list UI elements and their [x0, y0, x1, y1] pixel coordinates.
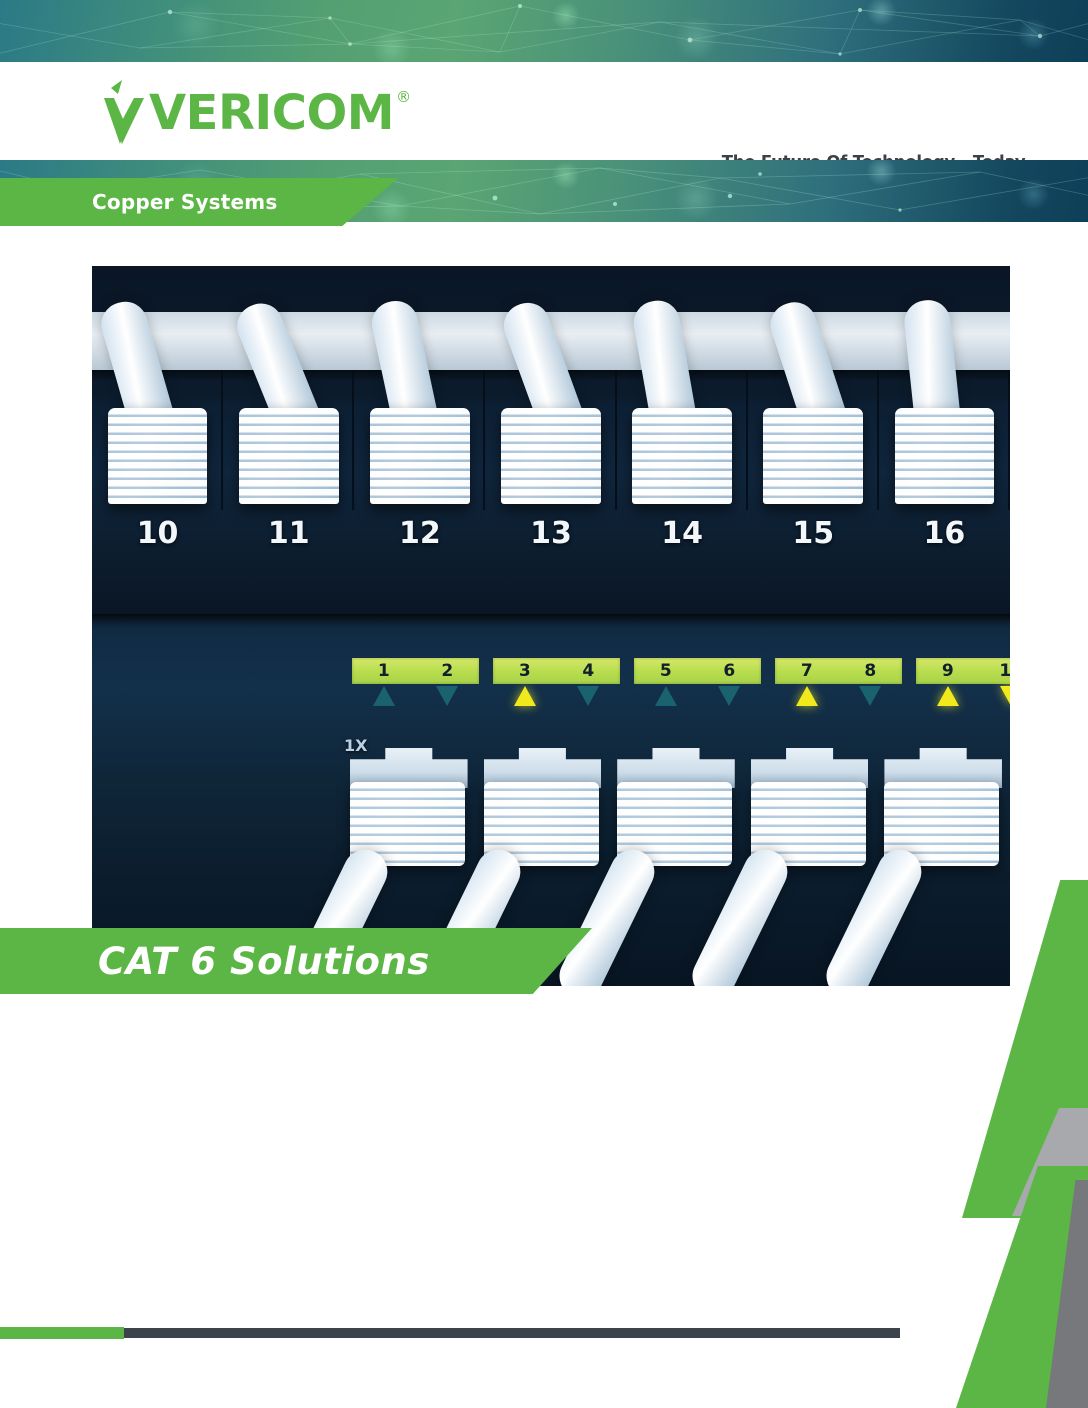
hero-photo-patch-panel: 10111213141516 12345678910 1X [92, 266, 1010, 986]
led-triangle-group [634, 686, 761, 716]
led-indicator-off [373, 686, 395, 706]
led-indicator-cell [557, 686, 621, 716]
footer-rule-dark [124, 1328, 900, 1338]
led-port-number: 9 [916, 661, 980, 681]
switch-jack-slot [876, 748, 1010, 984]
cable-boot [239, 408, 339, 504]
led-indicator-cell [634, 686, 698, 716]
led-triangle-group [916, 686, 1010, 716]
led-indicator-cell [416, 686, 480, 716]
led-indicator-cell [916, 686, 980, 716]
cable-boot [763, 408, 863, 504]
cable-boot [370, 408, 470, 504]
led-indicator-on [796, 686, 818, 706]
port-number: 14 [617, 516, 748, 576]
vericom-logo[interactable]: VERICOM ® [96, 78, 411, 150]
led-indicator-off [577, 686, 599, 706]
led-port-number: 1 [352, 661, 416, 681]
cable-boot [632, 408, 732, 504]
led-port-number: 7 [775, 661, 839, 681]
upper-jack-row [92, 362, 1010, 512]
led-label-group: 910 [916, 658, 1010, 684]
led-port-number: 10 [980, 661, 1011, 681]
registered-mark: ® [396, 88, 411, 106]
led-indicator-cell [775, 686, 839, 716]
section-tab-label: Copper Systems [92, 190, 277, 214]
upper-port-number-row: 10111213141516 [92, 516, 1010, 576]
led-label-group: 56 [634, 658, 761, 684]
port-number: 15 [748, 516, 879, 576]
jack-slot [879, 362, 1010, 512]
led-indicator-on [1000, 686, 1010, 706]
led-port-number: 4 [557, 661, 621, 681]
led-indicator-off [859, 686, 881, 706]
cable-boot [501, 408, 601, 504]
footer-rule-green [0, 1327, 124, 1339]
vericom-wordmark: VERICOM [149, 89, 394, 137]
led-label-group: 78 [775, 658, 902, 684]
led-indicator-cell [352, 686, 416, 716]
datasheet-page: VERICOM ® The Future Of Technology - Tod… [0, 0, 1088, 1408]
led-triangle-group [352, 686, 479, 716]
led-label-group: 12 [352, 658, 479, 684]
page-title-banner[interactable]: CAT 6 Solutions [0, 928, 592, 994]
led-port-number: 5 [634, 661, 698, 681]
upper-patch-panel: 10111213141516 [92, 266, 1010, 621]
led-indicator-on [514, 686, 536, 706]
port-number: 11 [223, 516, 354, 576]
footer-rule [0, 1327, 1088, 1339]
jack-slot [485, 362, 616, 512]
network-node-glow [0, 0, 1088, 62]
jack-slot [748, 362, 879, 512]
led-label-strip: 12345678910 [352, 658, 1010, 684]
led-port-number: 3 [493, 661, 557, 681]
led-port-number: 8 [839, 661, 903, 681]
led-indicator-row [352, 686, 1010, 716]
led-indicator-cell [839, 686, 903, 716]
led-indicator-off [655, 686, 677, 706]
cable-boot [895, 408, 995, 504]
led-indicator-cell [698, 686, 762, 716]
port-number: 12 [354, 516, 485, 576]
section-tab-copper-systems[interactable]: Copper Systems [0, 178, 398, 226]
page-title: CAT 6 Solutions [98, 940, 430, 983]
led-indicator-cell [493, 686, 557, 716]
jack-slot [354, 362, 485, 512]
led-label-group: 34 [493, 658, 620, 684]
led-indicator-off [718, 686, 740, 706]
jack-slot [92, 362, 223, 512]
led-triangle-group [493, 686, 620, 716]
jack-slot [617, 362, 748, 512]
led-indicator-cell [980, 686, 1011, 716]
jack-slot [223, 362, 354, 512]
cable-boot [108, 408, 208, 504]
brand-header: VERICOM ® The Future Of Technology - Tod… [0, 62, 1088, 160]
port-number: 16 [879, 516, 1010, 576]
vericom-check-v-icon [96, 78, 152, 150]
led-indicator-on [937, 686, 959, 706]
header-network-band [0, 0, 1088, 62]
port-number: 13 [485, 516, 616, 576]
led-indicator-off [436, 686, 458, 706]
led-port-number: 6 [698, 661, 762, 681]
port-number: 10 [92, 516, 223, 576]
led-triangle-group [775, 686, 902, 716]
led-port-number: 2 [416, 661, 480, 681]
